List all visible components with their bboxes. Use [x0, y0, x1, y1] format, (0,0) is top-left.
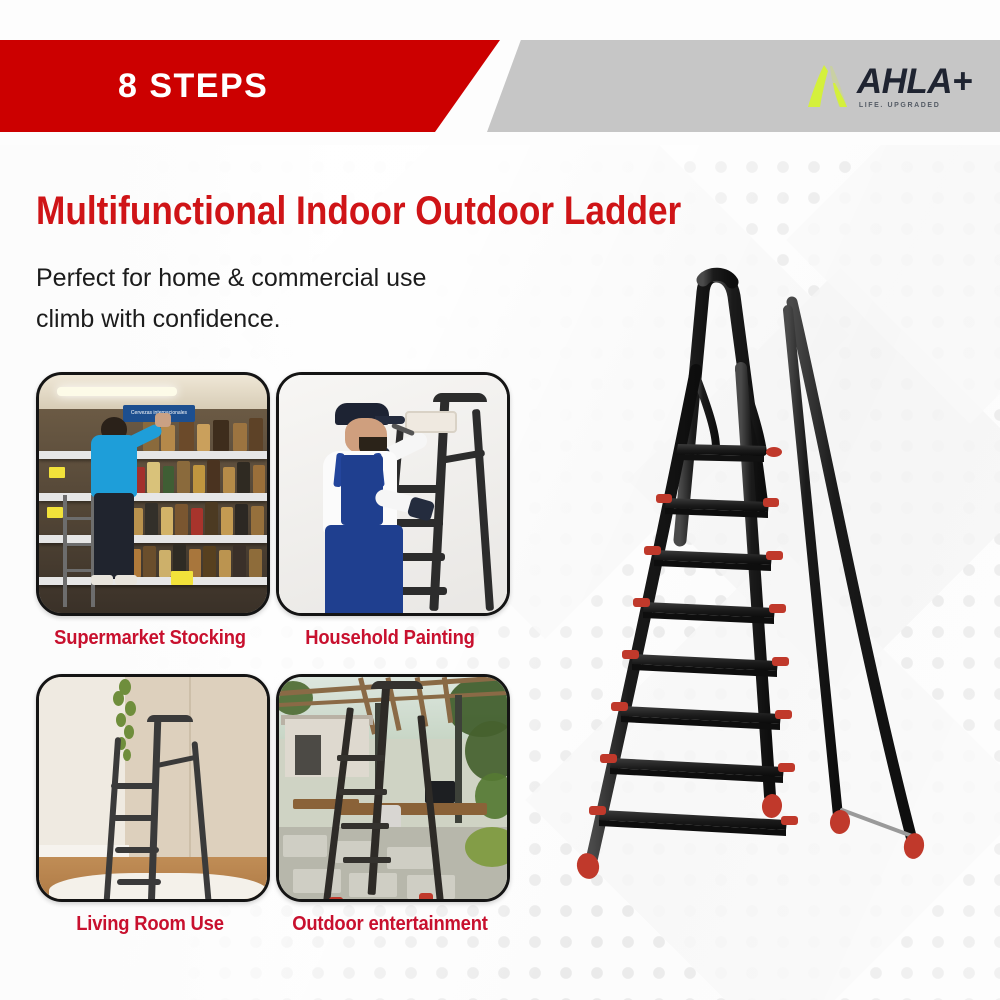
header: 8 STEPS AHLA+ LIFE. UPGRADED [0, 0, 1000, 145]
use-case-card-supermarket[interactable]: Cervezas internacionales Supe [36, 372, 264, 650]
supermarket-photo: Cervezas internacionales [36, 372, 270, 616]
ahla-a-mark-icon [806, 63, 848, 109]
subtitle: Perfect for home & commercial use climb … [36, 258, 556, 339]
use-case-caption: Living Room Use [45, 913, 255, 936]
outdoor-photo [276, 674, 510, 902]
use-case-card-outdoor[interactable]: Outdoor entertainment [276, 674, 504, 936]
use-case-caption: Supermarket Stocking [45, 627, 255, 650]
steps-badge: 8 STEPS [0, 40, 500, 132]
page-title: Multifunctional Indoor Outdoor Ladder [36, 190, 634, 232]
use-case-grid: Cervezas internacionales Supe [36, 372, 536, 936]
ladder-illustration [520, 240, 990, 900]
logo-wordmark: AHLA+ [857, 64, 972, 99]
steps-badge-label: 8 STEPS [118, 67, 268, 106]
brand-logo: AHLA+ LIFE. UPGRADED [806, 58, 972, 114]
use-case-row-top: Cervezas internacionales Supe [36, 372, 536, 650]
product-image [520, 240, 990, 900]
product-infographic-canvas: 8 STEPS AHLA+ LIFE. UPGRADED Multifuncti… [0, 0, 1000, 1000]
living-room-photo [36, 674, 270, 902]
subtitle-line-2: climb with confidence. [36, 299, 556, 340]
use-case-caption: Outdoor entertainment [285, 913, 495, 936]
use-case-row-bottom: Living Room Use [36, 674, 536, 936]
use-case-caption: Household Painting [285, 627, 495, 650]
use-case-card-living-room[interactable]: Living Room Use [36, 674, 264, 936]
subtitle-line-1: Perfect for home & commercial use [36, 258, 556, 299]
logo-tagline: LIFE. UPGRADED [859, 102, 972, 109]
painting-photo [276, 372, 510, 616]
use-case-card-painting[interactable]: Household Painting [276, 372, 504, 650]
logo-text-block: AHLA+ LIFE. UPGRADED [857, 64, 972, 109]
